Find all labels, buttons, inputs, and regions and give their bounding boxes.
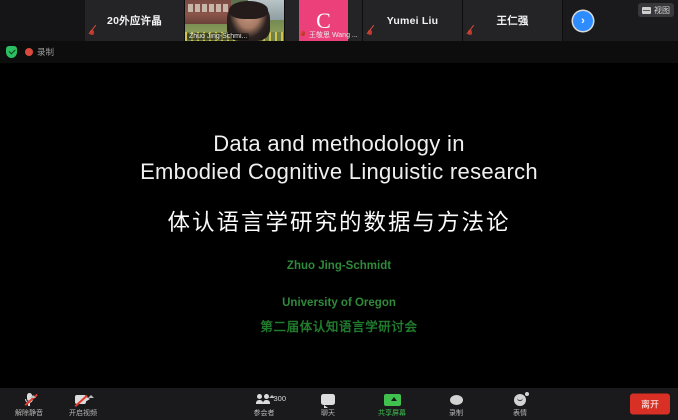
view-icon bbox=[642, 7, 651, 14]
recording-indicator[interactable]: 录制 bbox=[25, 46, 54, 58]
unmute-button-label: 解除静音 bbox=[15, 408, 43, 418]
filmstrip-tail: › 视图 bbox=[563, 0, 678, 41]
slide-title-english-line2: Embodied Cognitive Linguistic research bbox=[140, 158, 538, 186]
start-video-button[interactable]: 开启视频 bbox=[60, 390, 106, 418]
microphone-muted-icon bbox=[25, 392, 34, 407]
reactions-icon bbox=[514, 392, 526, 407]
next-page-arrow-button[interactable]: › bbox=[573, 11, 593, 31]
video-bg-building bbox=[185, 0, 231, 24]
slide-affiliation: University of Oregon bbox=[282, 296, 396, 312]
participants-chevron-icon[interactable] bbox=[269, 395, 275, 398]
participant-filmstrip: 20外应许晶 Zhuo Jing-Schmi... C bbox=[0, 0, 678, 41]
participant-name-4: 王仁强 bbox=[496, 13, 528, 28]
recording-label: 录制 bbox=[37, 46, 54, 58]
toolbar-left-group: 解除静音 开启视频 bbox=[0, 390, 106, 418]
record-button-label: 录制 bbox=[449, 408, 463, 418]
participant-tile-3[interactable]: Yumei Liu bbox=[363, 0, 463, 41]
video-bg-windows bbox=[188, 4, 228, 14]
participant-tile-0[interactable]: 20外应许晶 bbox=[85, 0, 185, 41]
share-screen-icon bbox=[384, 392, 401, 407]
view-button-label: 视图 bbox=[654, 5, 670, 16]
mic-muted-icon-2 bbox=[299, 30, 307, 40]
slide-title-english-line1: Data and methodology in bbox=[213, 130, 465, 158]
participant-name-1: Zhuo Jing-Schmi... bbox=[189, 33, 247, 40]
filmstrip-left-padding bbox=[0, 0, 85, 41]
participant-tile-1[interactable]: Zhuo Jing-Schmi... bbox=[185, 0, 285, 41]
participant-tile-4[interactable]: 王仁强 bbox=[463, 0, 563, 41]
zoom-meeting-window: 20外应许晶 Zhuo Jing-Schmi... C bbox=[0, 0, 678, 420]
chat-button-label: 聊天 bbox=[321, 408, 335, 418]
start-video-button-label: 开启视频 bbox=[69, 408, 97, 418]
toolbar-right-group: 离开 bbox=[630, 394, 670, 415]
leave-meeting-button[interactable]: 离开 bbox=[630, 394, 670, 415]
reactions-button-label: 表情 bbox=[513, 408, 527, 418]
camera-stopped-icon bbox=[75, 392, 92, 407]
participants-icon: 300 bbox=[256, 392, 273, 407]
participant-name-0: 20外应许晶 bbox=[107, 13, 162, 28]
meeting-toolbar: 解除静音 开启视频 300 bbox=[0, 388, 678, 420]
slide-author-name: Zhuo Jing-Schmidt bbox=[287, 259, 391, 275]
shared-screen-stage: Data and methodology in Embodied Cogniti… bbox=[0, 63, 678, 388]
participant-name-2: 王敬思 Wang ... bbox=[309, 30, 358, 40]
encryption-shield-icon[interactable] bbox=[6, 46, 17, 58]
chat-button[interactable]: 聊天 bbox=[305, 390, 351, 418]
record-dot-icon bbox=[25, 48, 33, 56]
mic-muted-icon-3 bbox=[366, 29, 374, 39]
record-button[interactable]: 录制 bbox=[433, 390, 479, 418]
slide-conference-name: 第二届体认知语言学研讨会 bbox=[260, 316, 417, 335]
participant-label-2: 王敬思 Wang ... bbox=[299, 30, 358, 40]
share-screen-button[interactable]: 共享屏幕 bbox=[369, 390, 415, 418]
participants-button-label: 参会者 bbox=[254, 408, 275, 418]
participant-label-1: Zhuo Jing-Schmi... bbox=[187, 33, 249, 40]
view-button[interactable]: 视图 bbox=[638, 3, 674, 17]
participant-tile-2[interactable]: C 王敬思 Wang ... bbox=[285, 0, 363, 41]
mic-muted-icon-0 bbox=[88, 29, 96, 39]
toolbar-center-group: 300 参会者 聊天 共享屏幕 bbox=[241, 390, 543, 418]
presentation-slide: Data and methodology in Embodied Cogniti… bbox=[88, 63, 590, 388]
slide-title-chinese: 体认语言学研究的数据与方法论 bbox=[167, 205, 510, 237]
participants-count: 300 bbox=[274, 394, 287, 403]
participants-button[interactable]: 300 参会者 bbox=[241, 390, 287, 418]
video-options-chevron-icon[interactable] bbox=[88, 395, 94, 398]
meeting-status-bar: 录制 bbox=[0, 41, 678, 63]
mic-muted-icon-4 bbox=[466, 29, 474, 39]
chat-icon bbox=[321, 392, 335, 407]
share-screen-button-label: 共享屏幕 bbox=[378, 408, 406, 418]
mic-options-chevron-icon[interactable] bbox=[30, 395, 36, 398]
participant-name-3: Yumei Liu bbox=[387, 15, 438, 27]
video-person-hair bbox=[229, 1, 269, 19]
record-icon bbox=[450, 392, 463, 407]
reactions-button[interactable]: 表情 bbox=[497, 390, 543, 418]
unmute-button[interactable]: 解除静音 bbox=[6, 390, 52, 418]
